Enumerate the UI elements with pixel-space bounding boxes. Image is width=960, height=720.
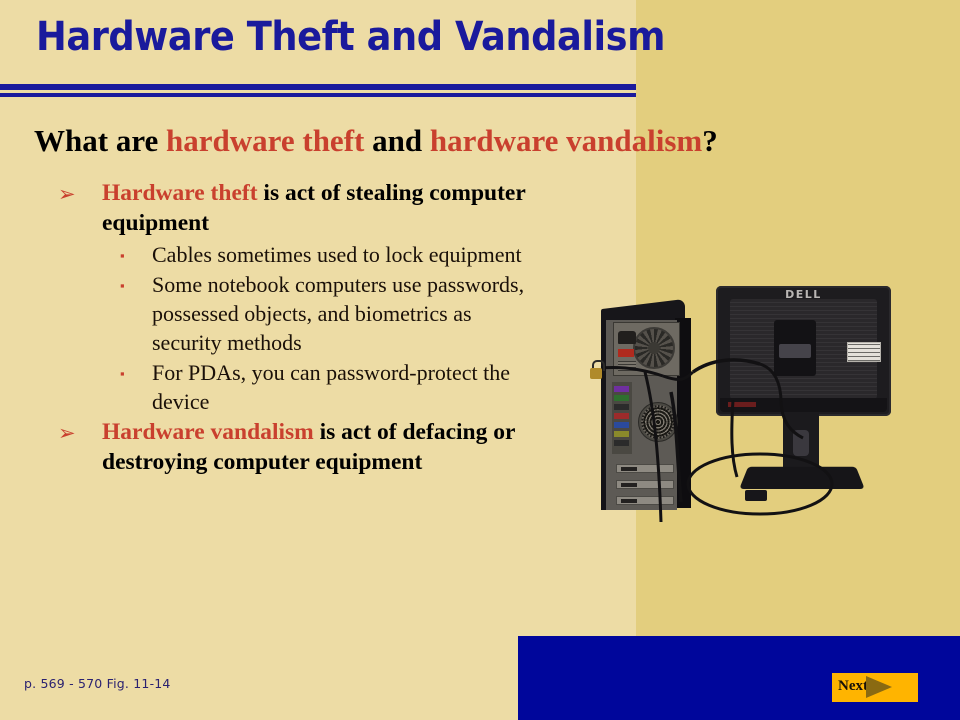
cable-clip	[745, 490, 767, 501]
subtitle-part-1: What are	[34, 123, 166, 158]
next-button[interactable]: Next	[832, 673, 918, 702]
bullet-item-level2: ▪Cables sometimes used to lock equipment	[42, 240, 542, 269]
figure-reference: p. 569 - 570 Fig. 11-14	[24, 676, 171, 691]
bullet-text: Some notebook computers use passwords, p…	[152, 272, 524, 355]
page-title: Hardware Theft and Vandalism	[36, 14, 643, 60]
arrow-bullet-icon: ➢	[58, 418, 76, 448]
square-bullet-icon: ▪	[120, 270, 125, 301]
subtitle-term-theft: hardware theft	[166, 123, 364, 158]
bullet-item-level2: ▪Some notebook computers use passwords, …	[42, 270, 542, 357]
bullet-item-level1: ➢Hardware vandalism is act of defacing o…	[42, 417, 542, 477]
subtitle-part-2: and	[364, 123, 429, 158]
square-bullet-icon: ▪	[120, 358, 125, 389]
arrow-right-icon	[866, 676, 892, 698]
next-button-label: Next	[838, 678, 868, 695]
divider-line-thin	[0, 93, 636, 97]
subtitle: What are hardware theft and hardware van…	[34, 122, 934, 160]
bullet-text: For PDAs, you can password-protect the d…	[152, 360, 510, 414]
subtitle-term-vandalism: hardware vandalism	[430, 123, 702, 158]
square-bullet-icon: ▪	[120, 240, 125, 271]
figure-cable-lock-photo: DELL	[585, 272, 925, 530]
bullet-highlight-term: Hardware theft	[102, 180, 258, 206]
arrow-bullet-icon: ➢	[58, 179, 76, 209]
bullet-item-level1: ➢Hardware theft is act of stealing compu…	[42, 178, 542, 238]
bullet-list: ➢Hardware theft is act of stealing compu…	[42, 178, 542, 479]
bullet-item-level2: ▪For PDAs, you can password-protect the …	[42, 358, 542, 416]
padlock-icon	[590, 360, 602, 378]
bullet-text: Cables sometimes used to lock equipment	[152, 242, 522, 267]
title-divider-rule	[0, 84, 636, 97]
slide: Hardware Theft and Vandalism What are ha…	[0, 0, 960, 720]
bullet-highlight-term: Hardware vandalism	[102, 419, 314, 445]
subtitle-part-3: ?	[702, 123, 718, 158]
padlock-body	[590, 368, 602, 379]
